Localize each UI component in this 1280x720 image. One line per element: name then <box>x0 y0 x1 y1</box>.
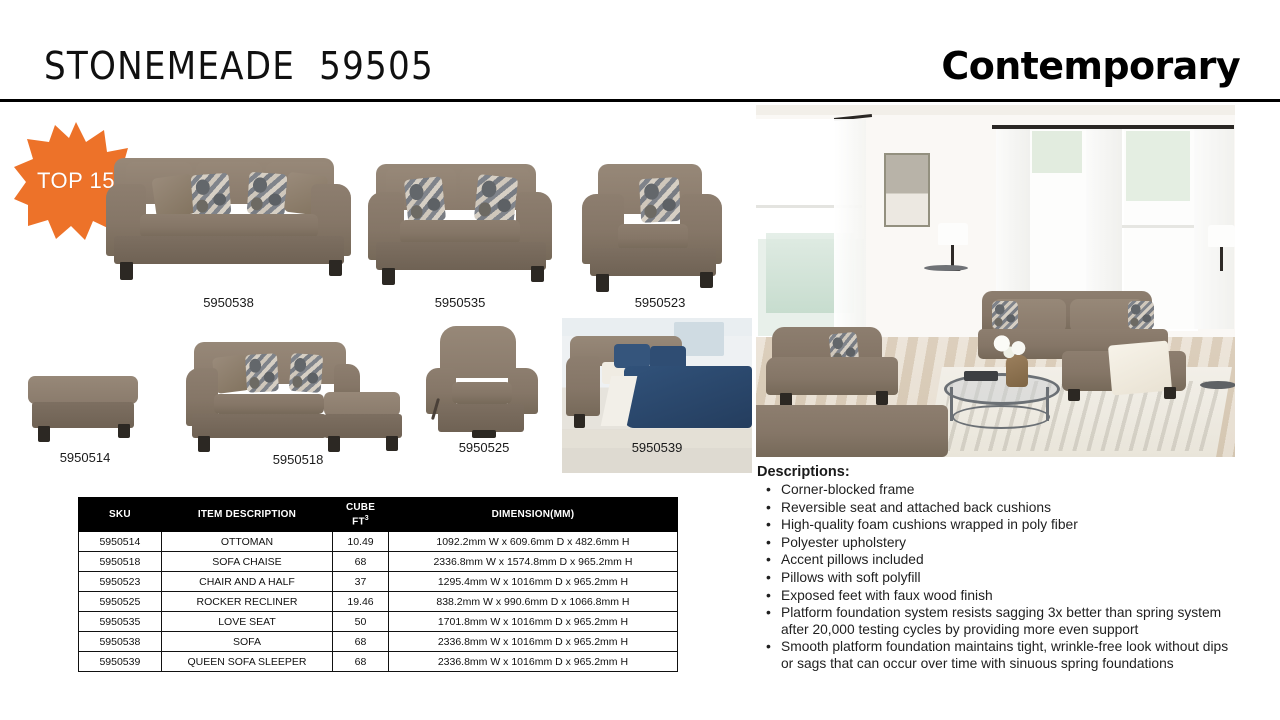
recliner-seat-cushion <box>452 382 512 404</box>
sleeper-sofa-arm <box>566 356 600 416</box>
cell-description: LOVE SEAT <box>161 612 332 632</box>
description-item: Platform foundation system resists saggi… <box>757 605 1237 638</box>
product-sofa-chaise[interactable]: 5950518 <box>178 330 418 475</box>
spec-table-wrap: SKU ITEM DESCRIPTION CUBE FT3 DIMENSION(… <box>78 497 678 672</box>
scene-side-table <box>924 265 968 271</box>
chaise-extension-base <box>324 414 402 438</box>
loveseat-patterned-pillow <box>404 176 446 224</box>
product-sofa[interactable]: 5950538 <box>96 140 361 315</box>
scene-lamp-stem <box>1220 247 1223 271</box>
chaise-foot <box>386 436 398 451</box>
cell-dimension: 2336.8mm W x 1574.8mm D x 965.2mm H <box>388 552 677 572</box>
cell-sku: 5950523 <box>79 572 162 592</box>
scene-coffee-table-shelf <box>952 405 1050 429</box>
loveseat-foot <box>531 266 544 282</box>
cell-cube: 68 <box>333 632 389 652</box>
scene-coffee-table-top <box>944 373 1060 405</box>
table-row: 5950514 OTTOMAN 10.49 1092.2mm W x 609.6… <box>79 532 678 552</box>
scene-window-muntin <box>1122 225 1194 228</box>
cell-dimension: 838.2mm W x 990.6mm D x 1066.8mm H <box>388 592 677 612</box>
sofa-patterned-pillow <box>247 172 288 217</box>
scene-ceiling <box>756 105 1235 115</box>
scene-window-foliage <box>1126 131 1190 201</box>
description-item: Smooth platform foundation maintains tig… <box>757 639 1237 672</box>
scene-window-foliage <box>1032 131 1082 173</box>
catalog-page: STONEMEADE 59505 Contemporary TOP 15 595… <box>0 0 1280 720</box>
cell-cube: 10.49 <box>333 532 389 552</box>
page-title: STONEMEADE 59505 <box>44 44 434 88</box>
sleeper-comforter <box>624 366 752 428</box>
cell-sku: 5950539 <box>79 652 162 672</box>
product-image-love-seat <box>360 150 560 315</box>
loveseat-patterned-pillow <box>474 174 519 224</box>
chaise-base <box>192 414 326 438</box>
cell-description: CHAIR AND A HALF <box>161 572 332 592</box>
scene-chaise-foot <box>1164 387 1176 399</box>
description-item: Polyester upholstery <box>757 535 1237 552</box>
cell-sku: 5950518 <box>79 552 162 572</box>
cell-sku: 5950514 <box>79 532 162 552</box>
ottoman-foot <box>38 426 50 442</box>
column-header-dimension: DIMENSION(MM) <box>388 498 677 532</box>
product-sku-label: 5950523 <box>570 295 750 310</box>
descriptions-list: Corner-blocked frame Reversible seat and… <box>757 482 1237 673</box>
cell-dimension: 1092.2mm W x 609.6mm D x 482.6mm H <box>388 532 677 552</box>
cell-cube: 68 <box>333 652 389 672</box>
product-chair-and-a-half[interactable]: 5950523 <box>570 150 750 315</box>
product-sku-label: 5950525 <box>418 440 550 455</box>
cell-description: ROCKER RECLINER <box>161 592 332 612</box>
sofa-foot <box>329 260 342 276</box>
table-body: 5950514 OTTOMAN 10.49 1092.2mm W x 609.6… <box>79 532 678 672</box>
chaise-patterned-pillow <box>245 353 279 393</box>
scene-coffee-table-leg <box>1046 387 1049 421</box>
cell-description: OTTOMAN <box>161 532 332 552</box>
sleeper-foot <box>574 414 585 428</box>
table-row: 5950538 SOFA 68 2336.8mm W x 1016mm D x … <box>79 632 678 652</box>
cell-cube: 50 <box>333 612 389 632</box>
header-divider <box>0 99 1280 102</box>
description-item: Pillows with soft polyfill <box>757 570 1237 587</box>
style-label: Contemporary <box>941 44 1240 88</box>
description-item: Corner-blocked frame <box>757 482 1237 499</box>
description-item: High-quality foam cushions wrapped in po… <box>757 517 1237 534</box>
table-row: 5950539 QUEEN SOFA SLEEPER 68 2336.8mm W… <box>79 652 678 672</box>
table-row: 5950525 ROCKER RECLINER 19.46 838.2mm W … <box>79 592 678 612</box>
cell-cube: 19.46 <box>333 592 389 612</box>
sofa-seat-cushions <box>140 214 318 238</box>
chair-patterned-pillow <box>639 177 681 223</box>
scene-wall-art <box>886 155 928 225</box>
product-image-sofa <box>96 140 361 315</box>
scene-chaise-foot <box>1068 389 1080 401</box>
room-scene-image <box>756 105 1235 457</box>
cube-line2: FT <box>352 516 365 527</box>
loveseat-seat-cushions <box>400 220 520 244</box>
sofa-patterned-pillow <box>191 173 232 218</box>
chaise-foot <box>198 436 210 452</box>
chair-base <box>590 248 716 276</box>
scene-flowers <box>988 333 1034 359</box>
product-queen-sofa-sleeper[interactable]: 5950539 <box>562 318 752 473</box>
chaise-seat-cushions <box>214 394 324 414</box>
spec-table: SKU ITEM DESCRIPTION CUBE FT3 DIMENSION(… <box>78 497 678 672</box>
description-item: Reversible seat and attached back cushio… <box>757 500 1237 517</box>
cell-description: SOFA CHAISE <box>161 552 332 572</box>
scene-curtain <box>834 119 866 335</box>
cell-dimension: 1295.4mm W x 1016mm D x 965.2mm H <box>388 572 677 592</box>
table-header-row: SKU ITEM DESCRIPTION CUBE FT3 DIMENSION(… <box>79 498 678 532</box>
scene-sectional-pillow <box>992 301 1018 329</box>
cell-dimension: 2336.8mm W x 1016mm D x 965.2mm H <box>388 632 677 652</box>
column-header-item-description: ITEM DESCRIPTION <box>161 498 332 532</box>
loveseat-foot <box>382 268 395 285</box>
product-ottoman[interactable]: 5950514 <box>20 368 150 473</box>
scene-sectional-pillow <box>1128 301 1154 329</box>
cube-line1: CUBE <box>346 502 375 513</box>
scene-ottoman <box>756 405 948 457</box>
description-item: Accent pillows included <box>757 552 1237 569</box>
chair-foot <box>596 274 609 292</box>
product-sku-label: 5950539 <box>562 440 752 455</box>
chaise-extension-cushion <box>324 392 400 416</box>
cell-description: SOFA <box>161 632 332 652</box>
sofa-accent-pillow <box>151 173 196 218</box>
chair-seat-cushion <box>618 224 688 250</box>
cell-cube: 37 <box>333 572 389 592</box>
descriptions-panel: Descriptions: Corner-blocked frame Rever… <box>757 464 1237 674</box>
cell-sku: 5950525 <box>79 592 162 612</box>
product-sku-label: 5950514 <box>20 450 150 465</box>
column-header-sku: SKU <box>79 498 162 532</box>
sofa-foot <box>120 262 133 280</box>
cell-cube: 68 <box>333 552 389 572</box>
product-love-seat[interactable]: 5950535 <box>360 150 560 315</box>
scene-tray <box>964 371 998 381</box>
scene-coffee-table-leg <box>950 387 953 421</box>
description-item: Exposed feet with faux wood finish <box>757 588 1237 605</box>
scene-lamp-shade <box>938 223 968 245</box>
recliner-foot <box>472 430 496 438</box>
loveseat-base <box>376 242 546 270</box>
ottoman-foot <box>118 424 130 438</box>
scene-side-table <box>1200 381 1235 389</box>
scene-chair-seat <box>766 357 898 395</box>
recliner-base <box>438 404 524 432</box>
product-sku-label: 5950518 <box>178 452 418 467</box>
table-row: 5950523 CHAIR AND A HALF 37 1295.4mm W x… <box>79 572 678 592</box>
product-sku-label: 5950535 <box>360 295 560 310</box>
scene-chair-foot <box>876 391 888 405</box>
cell-description: QUEEN SOFA SLEEPER <box>161 652 332 672</box>
chair-foot <box>700 272 713 288</box>
cell-dimension: 2336.8mm W x 1016mm D x 965.2mm H <box>388 652 677 672</box>
product-image-chair-and-a-half <box>570 150 750 315</box>
sofa-base <box>114 236 344 264</box>
scene-throw-blanket <box>1108 340 1172 395</box>
chaise-foot <box>328 436 340 452</box>
cell-sku: 5950538 <box>79 632 162 652</box>
product-rocker-recliner[interactable]: 5950525 <box>418 320 550 475</box>
column-header-cube-ft: CUBE FT3 <box>333 498 389 532</box>
cell-sku: 5950535 <box>79 612 162 632</box>
chaise-patterned-pillow <box>289 353 324 393</box>
table-row: 5950535 LOVE SEAT 50 1701.8mm W x 1016mm… <box>79 612 678 632</box>
cube-exponent: 3 <box>365 515 369 522</box>
sleeper-pillow <box>614 344 650 368</box>
descriptions-heading: Descriptions: <box>757 464 1237 480</box>
ottoman-top-cushion <box>28 376 138 404</box>
product-sku-label: 5950538 <box>96 295 361 310</box>
scene-vase <box>1006 355 1028 387</box>
cell-dimension: 1701.8mm W x 1016mm D x 965.2mm H <box>388 612 677 632</box>
table-row: 5950518 SOFA CHAISE 68 2336.8mm W x 1574… <box>79 552 678 572</box>
scene-lamp-shade <box>1208 225 1235 247</box>
